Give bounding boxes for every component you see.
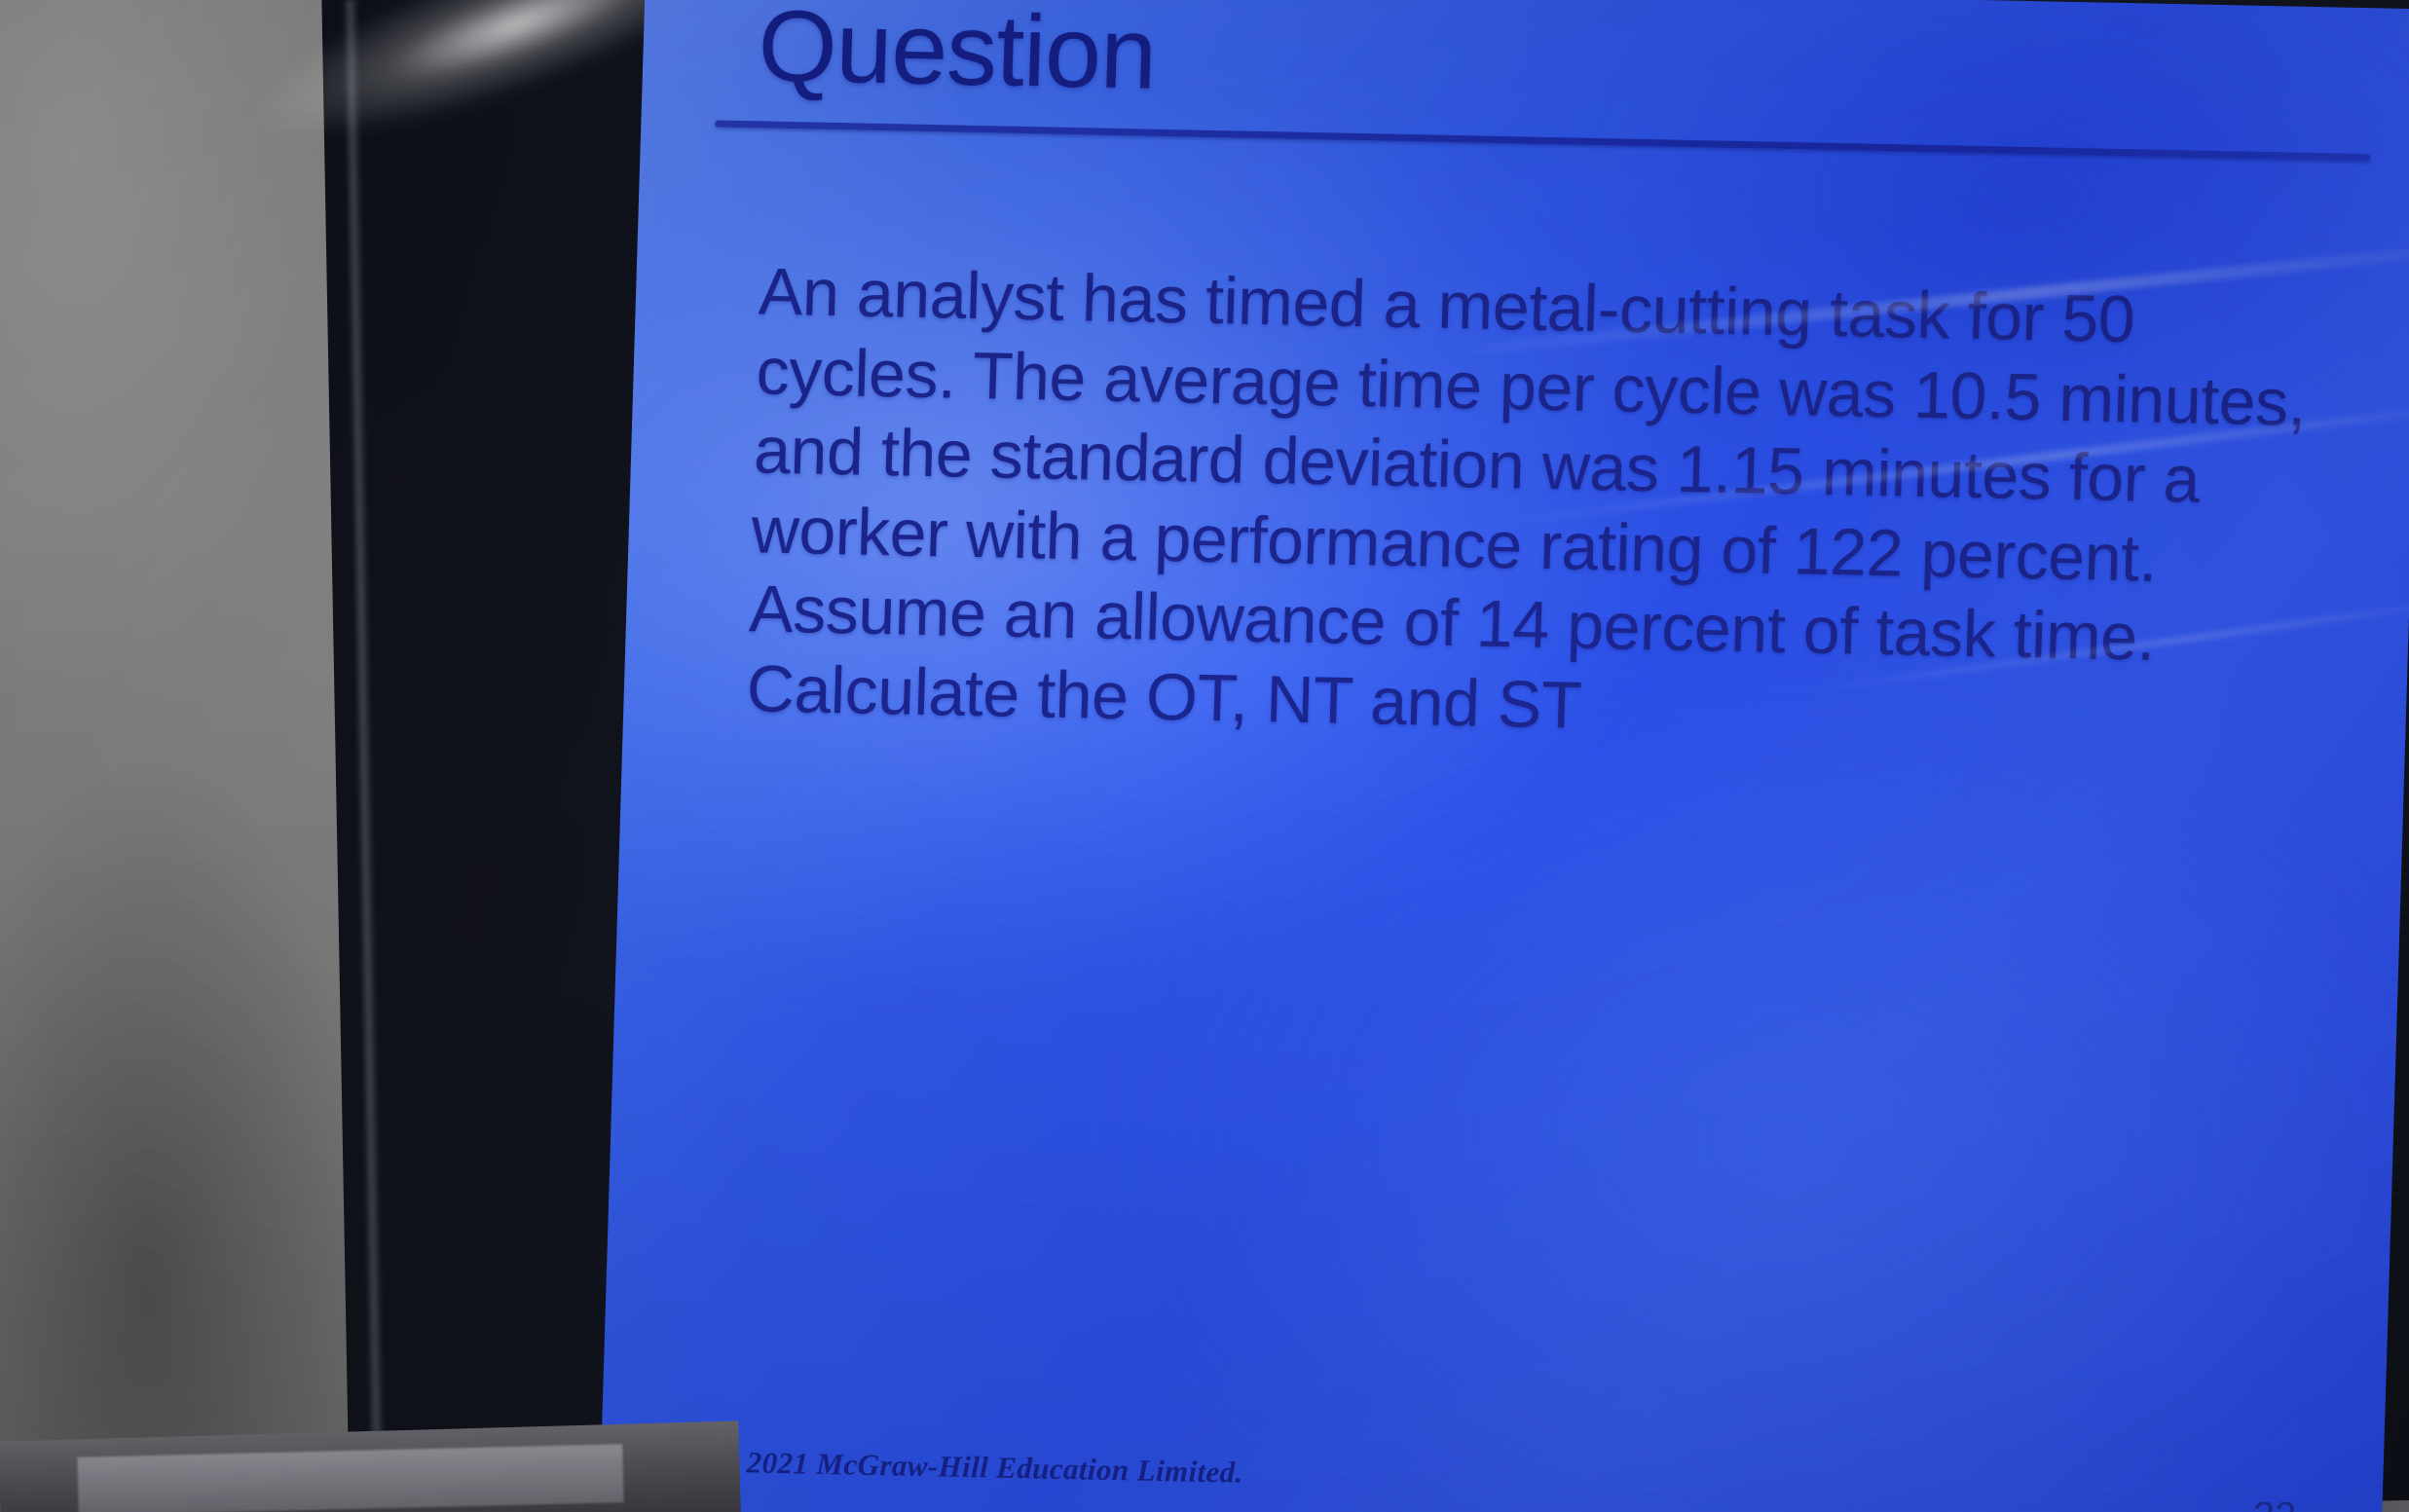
slide-number: 23: [2252, 1494, 2297, 1512]
presentation-screen: Question An analyst has timed a metal-cu…: [598, 0, 2409, 1512]
photo-scene: Question An analyst has timed a metal-cu…: [0, 0, 2409, 1512]
slide-body-text: An analyst has timed a metal-cutting tas…: [746, 253, 2347, 762]
slide-content: Question An analyst has timed a metal-cu…: [598, 0, 2409, 1512]
title-divider-rule: [715, 121, 2370, 162]
slide-title: Question: [757, 0, 2333, 129]
wall-left: [0, 0, 370, 1512]
slide: Question An analyst has timed a metal-cu…: [598, 0, 2409, 1512]
